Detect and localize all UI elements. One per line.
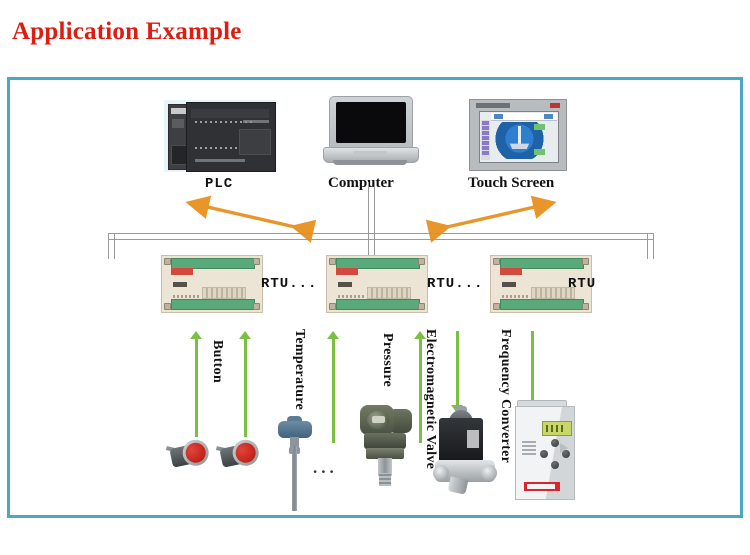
- label-computer: Computer: [328, 175, 394, 192]
- vfd-key-down: [551, 461, 559, 469]
- pressure-transmitter-icon[interactable]: [358, 405, 414, 487]
- hmi-side-menu: [481, 120, 490, 160]
- pressure-transmitter-window: [372, 416, 385, 423]
- signal-arrow-electromagnetic-valve: [451, 331, 463, 413]
- solenoid-valve-icon[interactable]: [435, 410, 495, 494]
- rtu-led-row: [338, 277, 384, 280]
- rtu-vent-ridge: [202, 287, 246, 299]
- plc-expansion-pane: [239, 129, 271, 155]
- rtu-print-row: [502, 295, 528, 298]
- label-frequency-converter: Frequency Converter: [497, 329, 513, 463]
- rtu-dip-switch: [502, 282, 516, 287]
- laptop-screen: [336, 102, 406, 143]
- vfd-arrow-mark: [560, 443, 568, 453]
- plc-tag: [171, 108, 186, 114]
- rtu-screw: [329, 303, 336, 310]
- rtu-screw: [582, 258, 589, 265]
- vfd-cabinet: [515, 406, 575, 500]
- label-plc: PLC: [205, 176, 233, 192]
- label-temperature: Temperature: [291, 329, 307, 410]
- vfd-brand-logo: [524, 482, 560, 491]
- plc-print-top: [243, 120, 269, 123]
- rtu-print-row: [173, 295, 199, 298]
- rtu-bottom-terminal: [171, 299, 255, 310]
- plc-module-icon[interactable]: [166, 102, 274, 170]
- pressure-transmitter-body: [364, 433, 406, 449]
- plc-body: [186, 102, 276, 172]
- plc-bus-link-arrow: [182, 198, 302, 212]
- rtu-bottom-terminal: [500, 299, 584, 310]
- plc-top-band: [191, 109, 269, 118]
- label-button: Button: [209, 340, 225, 383]
- label-rtu-right: RTU: [568, 276, 596, 292]
- rtu-screw: [253, 303, 260, 310]
- rtu-screw: [418, 258, 425, 265]
- temperature-sensor-probe: [292, 446, 297, 511]
- hmi-display: [479, 111, 559, 163]
- hmi-screen-button: [534, 124, 545, 130]
- signal-arrow-button-a: [190, 331, 202, 437]
- solenoid-valve-nameplate: [467, 430, 479, 448]
- solenoid-valve-coil: [439, 418, 483, 462]
- vfd-nameplate-text: [522, 441, 536, 455]
- rtu-screw: [329, 258, 336, 265]
- label-rtu-center: RTU...: [427, 276, 483, 292]
- vfd-key-up: [551, 439, 559, 447]
- label-touch-screen: Touch Screen: [468, 175, 554, 192]
- push-button-icon[interactable]: [169, 437, 212, 472]
- bus-drop-left-b: [114, 233, 115, 259]
- temperature-sensor-head: [278, 421, 312, 438]
- signal-arrow-button-b: [239, 331, 251, 437]
- rtu-power-terminal: [171, 268, 193, 275]
- rtu-vent-ridge: [367, 287, 411, 299]
- hmi-graphic-mast: [518, 126, 521, 144]
- temperature-sensor-icon[interactable]: [278, 421, 312, 511]
- hmi-logo: [550, 103, 560, 108]
- signal-arrow-temperature: [327, 331, 339, 443]
- label-pressure: Pressure: [379, 333, 395, 387]
- pressure-transmitter-thread: [379, 473, 391, 486]
- rtu-led-row: [502, 277, 548, 280]
- rtu-screw: [164, 258, 171, 265]
- rtu-module-icon[interactable]: [326, 255, 428, 313]
- hmi-toolbar-button: [494, 114, 503, 119]
- vfd-lcd-display: [542, 421, 572, 436]
- hmi-screen-button: [534, 149, 545, 155]
- hmi-toolbar: [491, 113, 557, 121]
- pressure-transmitter-cover-a: [360, 405, 394, 435]
- application-example-slide: Application Example: [0, 0, 750, 555]
- hmi-panel-icon[interactable]: [469, 99, 567, 171]
- bus-line-lower: [108, 239, 653, 240]
- push-button-icon[interactable]: [219, 437, 262, 472]
- bus-drop-left-a: [108, 233, 109, 259]
- bus-drop-right-a: [647, 233, 648, 259]
- laptop-lid: [329, 96, 413, 150]
- diagram-frame: PLC Computer Touch Screen: [7, 77, 743, 518]
- laptop-icon[interactable]: [323, 96, 417, 170]
- rtu-screw: [493, 303, 500, 310]
- vfd-key-left: [540, 450, 548, 458]
- rtu-screw: [582, 303, 589, 310]
- solenoid-valve-spout: [448, 476, 469, 494]
- vfd-drive-icon[interactable]: [513, 400, 575, 498]
- solenoid-valve-outlet-port: [481, 465, 497, 481]
- rtu-module-icon[interactable]: [161, 255, 263, 313]
- rtu-screw: [493, 258, 500, 265]
- plc-port: [172, 119, 184, 128]
- field-device-ellipsis: ...: [313, 458, 338, 478]
- label-rtu-left: RTU...: [261, 276, 317, 292]
- rtu-power-terminal: [500, 268, 522, 275]
- solenoid-valve-inlet-port: [433, 465, 449, 481]
- plc-print-bottom: [195, 159, 245, 162]
- rtu-screw: [253, 258, 260, 265]
- rtu-screw: [418, 303, 425, 310]
- rtu-screw: [164, 303, 171, 310]
- rtu-print-row: [338, 295, 364, 298]
- laptop-touchpad: [353, 151, 387, 156]
- rtu-bottom-terminal: [336, 299, 420, 310]
- laptop-foot: [333, 160, 407, 165]
- rtu-power-terminal: [336, 268, 358, 275]
- rtu-dip-switch: [173, 282, 187, 287]
- rtu-dip-switch: [338, 282, 352, 287]
- bus-line-upper: [108, 233, 653, 234]
- hmi-bus-link-arrow: [440, 198, 560, 212]
- bus-drop-right-b: [653, 233, 654, 259]
- plc-connector: [171, 145, 187, 165]
- hmi-brand-bar: [476, 103, 510, 108]
- page-title: Application Example: [12, 18, 242, 46]
- rtu-led-row: [173, 277, 219, 280]
- hmi-toolbar-button: [544, 114, 553, 119]
